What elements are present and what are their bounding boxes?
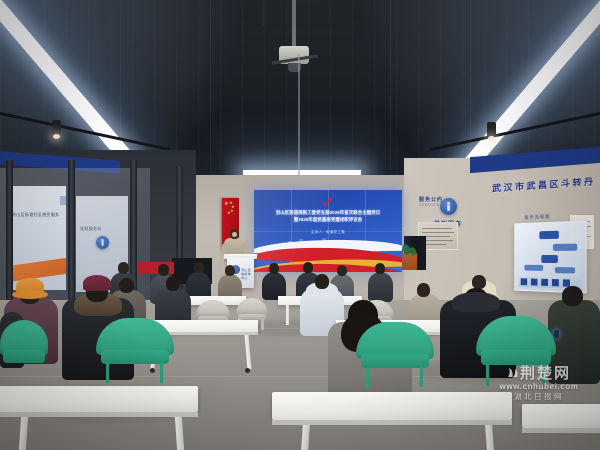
watermark-subtitle: 湖北日报网: [487, 392, 591, 401]
desk-edge: [522, 428, 600, 433]
party-service-emblem-left: [96, 236, 109, 249]
info-board-heading: 服务流程图: [524, 214, 550, 221]
plaque-title: 服务公约: [419, 196, 443, 203]
screen-glare: [254, 190, 402, 272]
support-pole: [298, 54, 300, 194]
led-presentation-screen: 洪山区街道两新工委党支部2026年首次联合主题党日 暨2025年度抓基层党建述职…: [254, 190, 402, 272]
watermark-brand-text: 荆楚网: [520, 365, 571, 382]
desk-caster: [245, 368, 250, 373]
poster-title-left: 洪山区街道社区便民服务: [12, 212, 59, 218]
chair[interactable]: [0, 320, 48, 378]
chair[interactable]: [96, 318, 174, 380]
projector-mount-rod: [292, 0, 296, 48]
projector-cable: [262, 0, 265, 26]
spot-light: [487, 122, 496, 137]
desk-foreground-left: [0, 386, 198, 412]
desk-foreground-right: [522, 404, 600, 428]
desk-leg: [286, 305, 289, 325]
poster-brand-left: 党群服务站: [80, 226, 102, 232]
window-mullion: [6, 160, 13, 310]
podium-logo-text: 洪山区融媒体中心: [241, 268, 254, 280]
presenter-face: [232, 232, 237, 237]
watermark-brand: 荆楚网: [487, 366, 591, 382]
spot-light: [52, 120, 61, 135]
photo-scene: 洪山区街道社区便民服务 党群服务站 武汉市武昌区斗转丹 党群服务 服务公约 SE…: [0, 0, 600, 450]
board-chip: [553, 244, 577, 251]
maroon-beanie: [83, 275, 111, 291]
watermark-url: www.cnhubei.com: [487, 382, 591, 392]
desk-foreground-center: [272, 392, 512, 420]
plaque-subtitle: SERVICE CHART: [419, 203, 458, 207]
desk-edge: [0, 412, 198, 417]
board-chip: [539, 231, 558, 239]
board-chip: [541, 255, 558, 263]
window-mullion: [68, 160, 75, 310]
watermark: 荆楚网 www.cnhubei.com 湖北日报网: [487, 366, 591, 401]
board-chip: [524, 265, 543, 271]
info-board: 服务流程图: [514, 220, 586, 293]
chair[interactable]: [356, 322, 434, 384]
board-chip: [555, 267, 575, 273]
watermark-logo-icon: [507, 367, 519, 379]
